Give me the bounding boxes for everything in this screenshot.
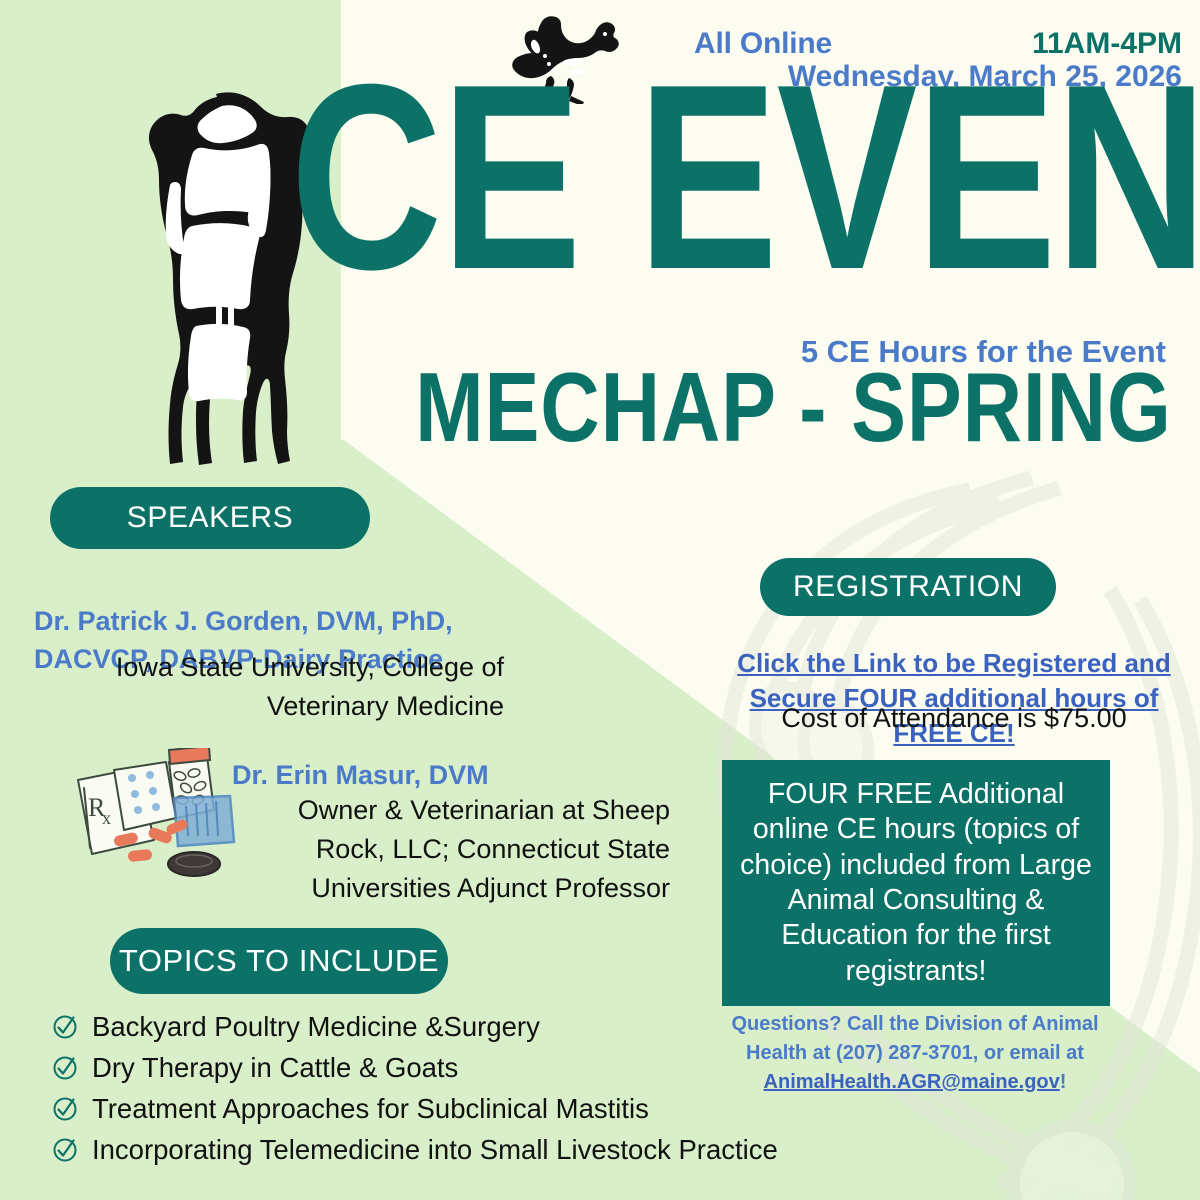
svg-text:x: x — [102, 808, 111, 828]
registration-link[interactable]: Click the Link to be Registered and Secu… — [714, 646, 1194, 750]
email-suffix: ! — [1060, 1071, 1067, 1093]
free-ce-offer-box: FOUR FREE Additional online CE hours (to… — [722, 760, 1110, 1006]
topic-label: Backyard Poultry Medicine &Surgery — [92, 1011, 540, 1043]
list-item: Backyard Poultry Medicine &Surgery — [52, 1008, 872, 1046]
list-item: Incorporating Telemedicine into Small Li… — [52, 1131, 872, 1169]
topic-label: Incorporating Telemedicine into Small Li… — [92, 1134, 778, 1166]
topics-list: Backyard Poultry Medicine &Surgery Dry T… — [52, 1008, 872, 1172]
poster-canvas: R x — [0, 0, 1200, 1200]
event-subtitle: MECHAP - SPRING — [415, 360, 1172, 454]
topic-label: Dry Therapy in Cattle & Goats — [92, 1052, 458, 1084]
check-circle-icon — [52, 1096, 78, 1122]
check-circle-icon — [52, 1055, 78, 1081]
check-circle-icon — [52, 1014, 78, 1040]
speaker-2-affiliation: Owner & Veterinarian at Sheep Rock, LLC;… — [232, 791, 670, 908]
list-item: Dry Therapy in Cattle & Goats — [52, 1049, 872, 1087]
list-item: Treatment Approaches for Subclinical Mas… — [52, 1090, 872, 1128]
cost-of-attendance: Cost of Attendance is $75.00 — [714, 703, 1194, 734]
rx-medication-illustration: R x — [62, 748, 252, 888]
registration-heading: REGISTRATION — [760, 558, 1056, 616]
check-circle-icon — [52, 1137, 78, 1163]
speakers-heading: SPEAKERS — [50, 487, 370, 549]
topics-heading: TOPICS TO INCLUDE — [110, 928, 448, 994]
speaker-2-name: Dr. Erin Masur, DVM — [232, 757, 672, 795]
topic-label: Treatment Approaches for Subclinical Mas… — [92, 1093, 649, 1125]
speaker-1-affiliation: Iowa State University, College of Veteri… — [34, 648, 504, 726]
page-title: CE EVENT — [290, 66, 1200, 288]
